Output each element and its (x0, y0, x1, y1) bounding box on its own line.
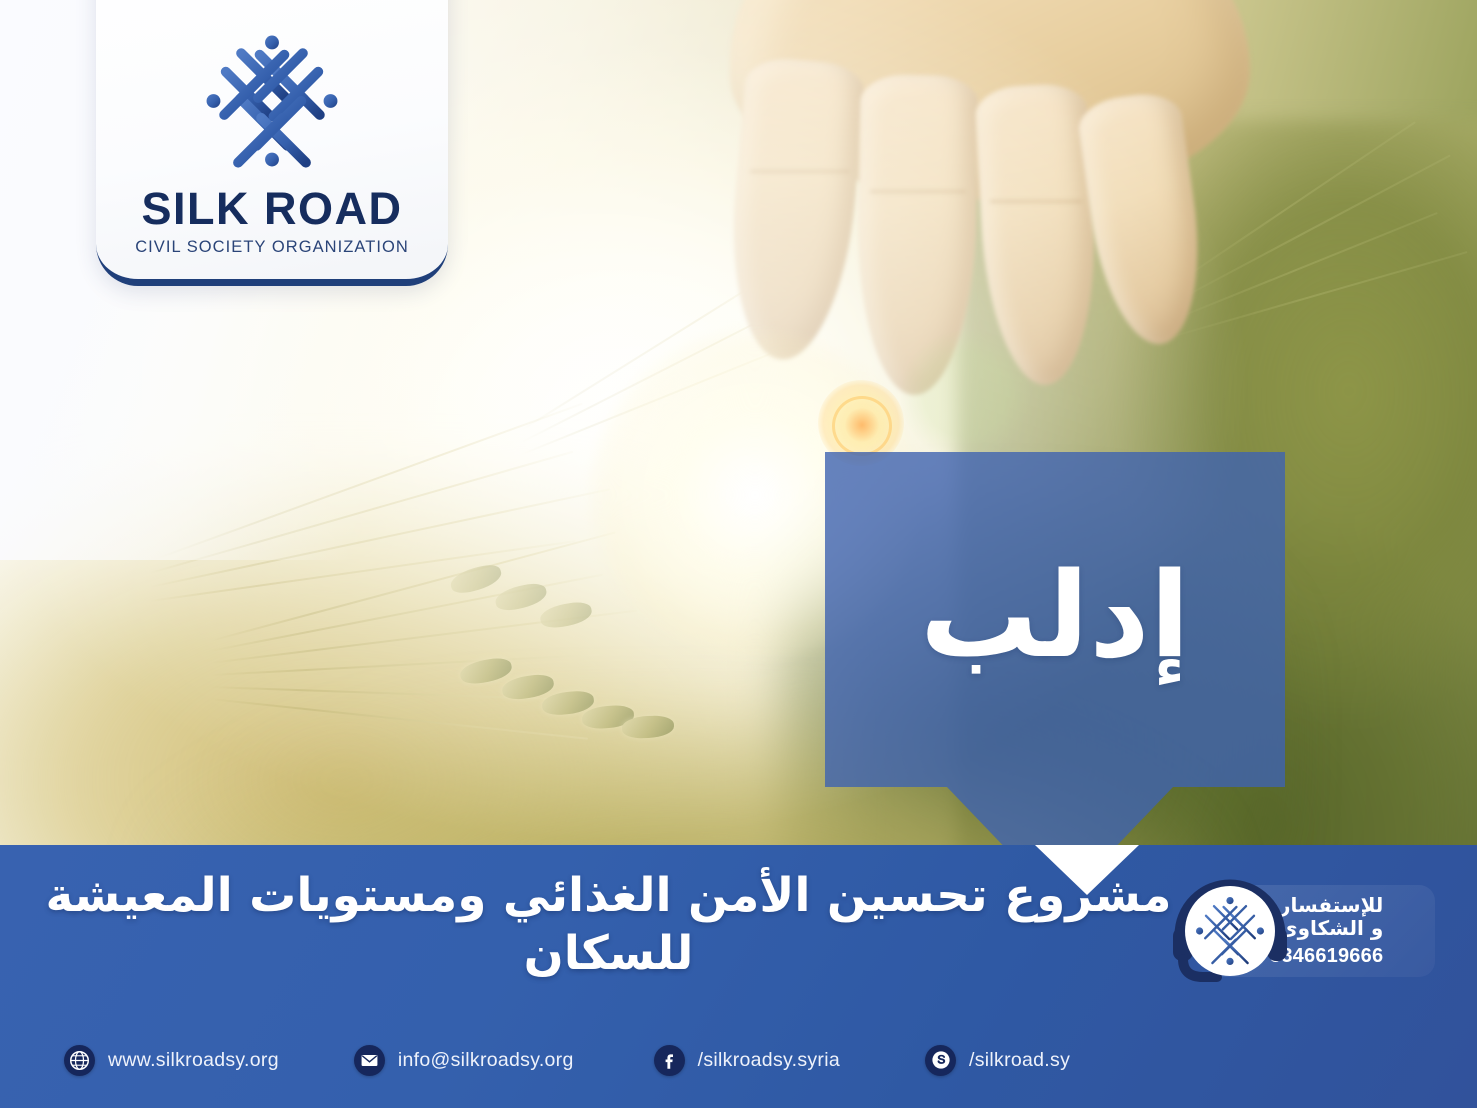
support-badge[interactable]: للإستفسار و الشكاوى : + 90 5346619666 (1210, 885, 1435, 977)
location-callout: إدلب (825, 452, 1285, 787)
contact-email[interactable]: info@silkroadsy.org (354, 1045, 574, 1076)
envelope-icon (354, 1045, 385, 1076)
silk-road-interlace-logo (195, 24, 349, 178)
footer-bar: مشروع تحسين الأمن الغذائي ومستويات المعي… (0, 845, 1477, 1108)
contact-website[interactable]: www.silkroadsy.org (64, 1045, 279, 1076)
contact-skype-text: /silkroad.sy (969, 1049, 1070, 1072)
poster-canvas: SILK ROAD CIVIL SOCIETY ORGANIZATION إدل… (0, 0, 1477, 1108)
contact-facebook[interactable]: /silkroadsy.syria (654, 1045, 840, 1076)
contact-facebook-text: /silkroadsy.syria (698, 1049, 840, 1072)
brand-name: SILK ROAD (142, 186, 403, 231)
contact-website-text: www.silkroadsy.org (108, 1049, 279, 1072)
contact-strip: www.silkroadsy.org info@silkroadsy.org (0, 1030, 1160, 1090)
location-label: إدلب (825, 452, 1285, 787)
brand-subtitle: CIVIL SOCIETY ORGANIZATION (135, 238, 409, 257)
contact-skype[interactable]: /silkroad.sy (925, 1045, 1070, 1076)
globe-icon (64, 1045, 95, 1076)
skype-icon (925, 1045, 956, 1076)
headset-icon (1168, 869, 1292, 993)
contact-email-text: info@silkroadsy.org (398, 1049, 574, 1072)
logo-card: SILK ROAD CIVIL SOCIETY ORGANIZATION (96, 0, 448, 286)
facebook-icon (654, 1045, 685, 1076)
